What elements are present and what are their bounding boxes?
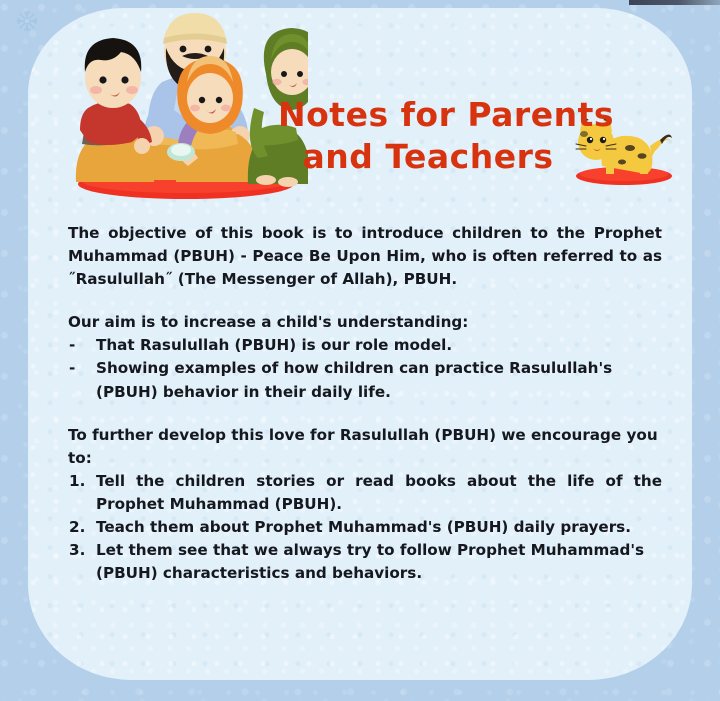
encourage-list: 1. Tell the children stories or read boo… [68, 470, 662, 585]
list-item: 1. Tell the children stories or read boo… [68, 470, 662, 516]
page-content: The objective of this book is to introdu… [68, 222, 662, 585]
encourage-lead: To further develop this love for Rasulul… [68, 424, 662, 470]
list-item: 2. Teach them about Prophet Muhammad's (… [68, 516, 662, 539]
page-header: Notes for Parents and Teachers [28, 8, 692, 213]
snowflake-icon [14, 8, 40, 34]
section-gap [68, 291, 662, 311]
list-marker: 1. [69, 470, 93, 493]
list-item-text: Showing examples of how children can pra… [96, 359, 612, 400]
aim-list: - That Rasulullah (PBUH) is our role mod… [68, 334, 662, 403]
list-item: - That Rasulullah (PBUH) is our role mod… [68, 334, 662, 357]
scan-edge-artifact [629, 0, 720, 5]
list-item: - Showing examples of how children can p… [68, 357, 662, 403]
list-marker: - [69, 334, 93, 357]
section-gap [68, 404, 662, 424]
list-marker: 2. [69, 516, 93, 539]
aim-lead: Our aim is to increase a child's underst… [68, 311, 662, 334]
book-page: Notes for Parents and Teachers The objec… [0, 0, 720, 701]
list-item-text: That Rasulullah (PBUH) is our role model… [96, 336, 452, 354]
page-title: Notes for Parents and Teachers [278, 94, 578, 178]
intro-paragraph: The objective of this book is to introdu… [68, 222, 662, 291]
page-title-line-2: and Teachers [278, 136, 578, 178]
list-item-text: Teach them about Prophet Muhammad's (PBU… [96, 518, 631, 536]
list-item: 3. Let them see that we always try to fo… [68, 539, 662, 585]
family-illustration [58, 12, 308, 208]
list-item-text: Let them see that we always try to follo… [96, 541, 644, 582]
list-marker: 3. [69, 539, 93, 562]
page-title-line-1: Notes for Parents [278, 94, 578, 136]
list-marker: - [69, 357, 93, 380]
list-item-text: Tell the children stories or read books … [96, 472, 662, 513]
